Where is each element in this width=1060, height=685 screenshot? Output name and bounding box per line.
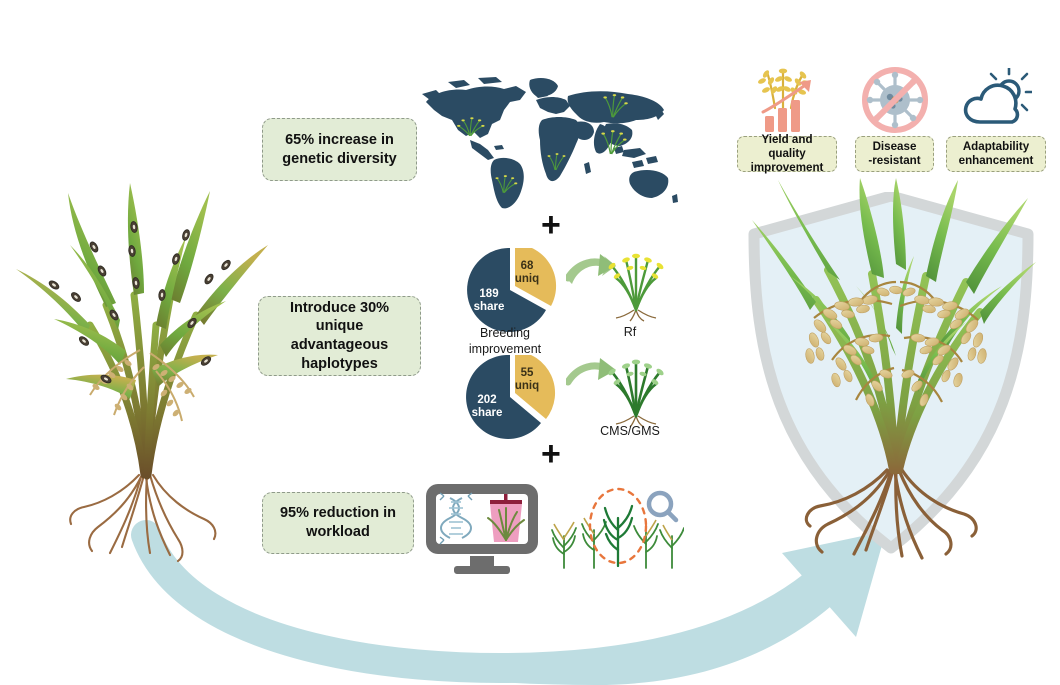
callout-line: workload <box>306 524 370 540</box>
callout-line: 65% increase in <box>285 132 394 148</box>
callout-line: genetic diversity <box>282 151 396 167</box>
magnifier-icon <box>649 493 676 520</box>
diseased-rice-plant <box>10 175 280 575</box>
computer-monitor-icon <box>424 482 540 576</box>
pie1-caption: Breeding improvement <box>440 326 570 357</box>
cms-gms-plant <box>598 352 674 428</box>
callout-line: 95% reduction in <box>280 505 396 521</box>
wheat-growth-chart-icon <box>753 66 823 134</box>
pie1-share-value: 189 share <box>466 288 512 314</box>
rf-label: Rf <box>575 325 685 341</box>
pie2-uniq-value: 55 uniq <box>505 367 549 393</box>
badge-disease-resistant: Disease -resistant <box>855 136 934 172</box>
potted-rice-plant-icon <box>488 494 524 542</box>
world-map <box>408 72 680 212</box>
callout-unique-haplotypes: Introduce 30% unique advantageous haplot… <box>258 296 421 376</box>
plus-operator-1: + <box>541 208 561 242</box>
callout-line: Introduce 30% <box>290 300 389 316</box>
improved-rice-plant <box>750 178 1036 580</box>
callout-line: haplotypes <box>301 356 378 372</box>
rf-plant <box>600 248 672 322</box>
plus-operator-2: + <box>541 437 561 471</box>
rice-field-selection <box>548 484 684 576</box>
graphical-abstract: 65% increase in genetic diversity Introd… <box>0 0 1060 685</box>
virus-blocked-icon <box>861 66 929 134</box>
cms-gms-label: CMS/GMS <box>570 424 690 440</box>
pie1-uniq-value: 68 uniq <box>505 260 549 286</box>
badge-adaptability: Adaptability enhancement <box>946 136 1046 172</box>
badge-yield-quality: Yield and quality improvement <box>737 136 837 172</box>
cloud-sun-icon <box>962 68 1032 132</box>
pie2-share-value: 202 share <box>464 394 510 420</box>
callout-workload-reduction: 95% reduction in workload <box>262 492 414 554</box>
callout-line: unique advantageous <box>291 318 389 353</box>
callout-genetic-diversity: 65% increase in genetic diversity <box>262 118 417 181</box>
